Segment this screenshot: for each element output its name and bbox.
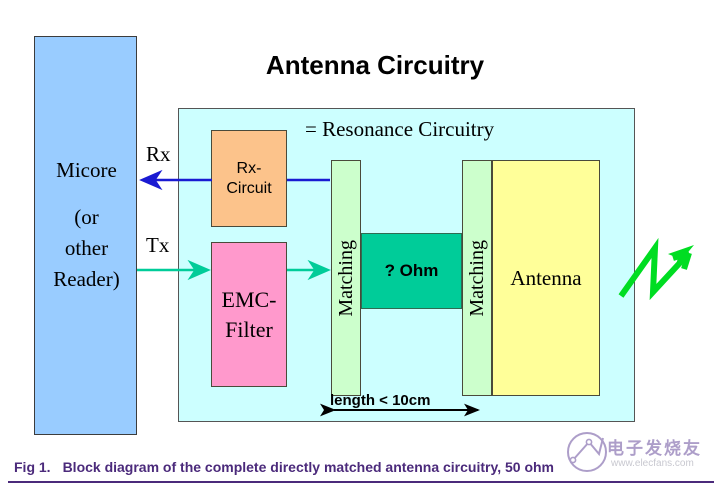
impedance-label: ? Ohm (385, 261, 439, 281)
reader-block-label: Micore (or other Reader) (35, 155, 138, 295)
reader-name: Micore (56, 158, 117, 182)
matching-left-label: Matching (335, 240, 358, 317)
impedance-block: ? Ohm (361, 233, 462, 309)
page-title: Antenna Circuitry (200, 50, 550, 81)
matching-right-label: Matching (466, 240, 489, 317)
figure-caption-text: Block diagram of the complete directly m… (63, 459, 554, 475)
figure-caption: Fig 1.Block diagram of the complete dire… (14, 459, 554, 475)
reader-spacer (35, 186, 138, 202)
emc-filter-block: EMC- Filter (211, 242, 287, 387)
reader-alt-line1: (or (74, 205, 99, 229)
radiation-arrow-head (668, 245, 694, 268)
watermark: 电子发烧友 www.elecfans.com (565, 428, 715, 480)
antenna-block: Antenna (492, 160, 600, 396)
antenna-circuitry-container: = Resonance Circuitry Rx- Circuit EMC- F… (178, 108, 635, 422)
resonance-circuitry-legend: = Resonance Circuitry (305, 117, 494, 142)
emc-filter-label-line1: EMC- (222, 287, 277, 312)
rx-circuit-label-line2: Circuit (226, 180, 271, 197)
rx-circuit-block: Rx- Circuit (211, 130, 287, 227)
antenna-label: Antenna (510, 266, 581, 291)
matching-block-right: Matching (462, 160, 492, 396)
figure-canvas: Antenna Circuitry Micore (or other Reade… (0, 0, 722, 492)
matching-block-left: Matching (331, 160, 361, 396)
rx-circuit-label: Rx- Circuit (226, 159, 271, 199)
reader-block: Micore (or other Reader) (34, 36, 137, 435)
caption-divider (8, 481, 714, 483)
length-annotation-label: length < 10cm (330, 392, 430, 409)
rx-signal-label: Rx (146, 142, 171, 167)
figure-number: Fig 1. (14, 459, 51, 475)
tx-signal-label: Tx (146, 233, 169, 258)
rx-circuit-label-line1: Rx- (237, 160, 262, 177)
reader-alt-line3: Reader) (53, 267, 119, 291)
watermark-subtext: www.elecfans.com (611, 458, 694, 469)
emc-filter-label: EMC- Filter (222, 285, 277, 345)
emc-filter-label-line2: Filter (225, 317, 273, 342)
reader-alt-line2: other (65, 236, 108, 260)
watermark-text: 电子发烧友 (607, 434, 702, 459)
